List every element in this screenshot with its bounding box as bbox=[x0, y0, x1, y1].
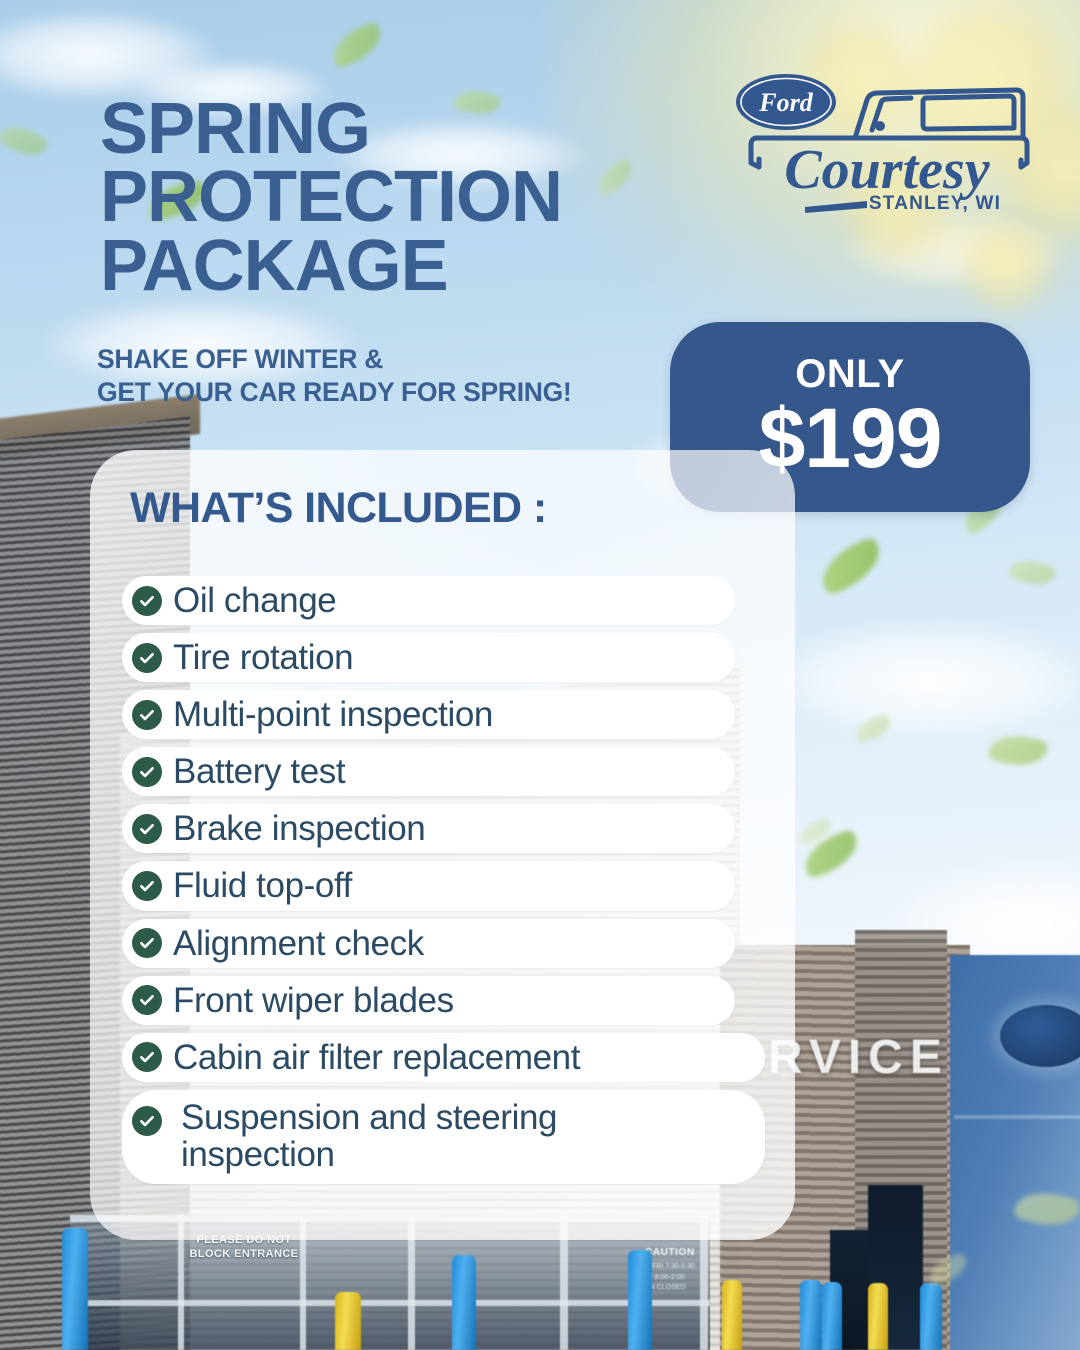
check-glyph bbox=[138, 991, 156, 1009]
check-circle-icon bbox=[132, 1106, 162, 1136]
check-circle-icon bbox=[132, 928, 162, 958]
headline-line-1: SPRING bbox=[100, 95, 562, 163]
bollard-blue bbox=[800, 1280, 822, 1350]
check-glyph bbox=[138, 649, 156, 667]
check-glyph bbox=[138, 820, 156, 838]
svg-text:Ford: Ford bbox=[758, 88, 813, 117]
bollard-blue bbox=[822, 1282, 842, 1350]
check-glyph bbox=[138, 763, 156, 781]
mullion-horizontal bbox=[70, 1300, 710, 1306]
included-item-label: Multi-point inspection bbox=[173, 696, 493, 733]
included-item-5: Brake inspection bbox=[122, 804, 735, 853]
check-circle-icon bbox=[132, 814, 162, 844]
bollard-yellow bbox=[335, 1292, 361, 1350]
check-circle-icon bbox=[132, 700, 162, 730]
mirror-dot bbox=[875, 121, 885, 131]
check-glyph bbox=[138, 934, 156, 952]
check-circle-icon bbox=[132, 985, 162, 1015]
included-item-label: Oil change bbox=[173, 582, 336, 619]
included-item-2: Tire rotation bbox=[122, 633, 735, 682]
check-circle-icon bbox=[132, 1042, 162, 1072]
dealer-name-script: Courtesy bbox=[784, 139, 990, 201]
check-circle-icon bbox=[132, 757, 162, 787]
included-item-3: Multi-point inspection bbox=[122, 690, 735, 739]
included-item-1: Oil change bbox=[122, 576, 735, 625]
check-glyph bbox=[138, 592, 156, 610]
included-panel-title: WHAT’S INCLUDED : bbox=[130, 484, 547, 533]
included-item-label: Front wiper blades bbox=[173, 982, 454, 1019]
included-item-label: Cabin air filter replacement bbox=[173, 1039, 580, 1076]
included-item-4: Battery test bbox=[122, 747, 735, 796]
check-glyph bbox=[138, 706, 156, 724]
bollard-blue bbox=[452, 1255, 476, 1350]
included-item-label: Tire rotation bbox=[173, 639, 353, 676]
check-glyph bbox=[138, 877, 156, 895]
check-circle-icon bbox=[132, 586, 162, 616]
headline-line-3: PACKAGE bbox=[100, 232, 562, 300]
headline-line-2: PROTECTION bbox=[100, 163, 562, 231]
check-circle-icon bbox=[132, 871, 162, 901]
caution-sign: CAUTION bbox=[645, 1247, 695, 1258]
included-item-7: Alignment check bbox=[122, 919, 735, 968]
included-item-10: Suspension and steering inspection bbox=[122, 1090, 765, 1184]
poster-canvas: SERVICE PLEASE DO NOTBLOCK ENTRANCE CAUT… bbox=[0, 0, 1080, 1350]
included-item-6: Fluid top-off bbox=[122, 861, 735, 910]
bollard-blue bbox=[920, 1283, 942, 1350]
subheadline-line-1: SHAKE OFF WINTER & bbox=[97, 343, 571, 376]
included-item-label: Suspension and steering inspection bbox=[173, 1099, 557, 1173]
cloud-shape bbox=[760, 620, 1080, 740]
bollard-yellow bbox=[868, 1283, 888, 1350]
included-item-8: Front wiper blades bbox=[122, 976, 735, 1025]
included-item-label: Fluid top-off bbox=[173, 867, 352, 904]
subheadline-line-2: GET YOUR CAR READY FOR SPRING! bbox=[97, 376, 571, 409]
included-item-label: Alignment check bbox=[173, 925, 424, 962]
included-item-label: Battery test bbox=[173, 753, 345, 790]
dealer-location-label: STANLEY, WI bbox=[869, 193, 1001, 214]
subheadline: SHAKE OFF WINTER & GET YOUR CAR READY FO… bbox=[97, 343, 571, 409]
page-title: SPRING PROTECTION PACKAGE bbox=[100, 95, 562, 300]
price-prefix: ONLY bbox=[795, 354, 904, 394]
included-item-9: Cabin air filter replacement bbox=[122, 1033, 765, 1082]
included-items-list: Oil changeTire rotationMulti-point inspe… bbox=[122, 576, 782, 1192]
logo-artwork: Ford Courtesy STANLEY, WI bbox=[735, 68, 1035, 228]
included-item-label: Brake inspection bbox=[173, 810, 425, 847]
logo-swoosh bbox=[805, 201, 867, 213]
bollard-yellow bbox=[722, 1280, 742, 1350]
price-amount: $199 bbox=[759, 396, 942, 480]
check-glyph bbox=[138, 1048, 156, 1066]
check-circle-icon bbox=[132, 643, 162, 673]
dealership-logo: Ford Courtesy STANLEY, WI bbox=[735, 68, 1035, 228]
bokeh-highlight bbox=[960, 220, 1055, 315]
bollard-blue bbox=[62, 1228, 88, 1350]
check-glyph bbox=[138, 1112, 156, 1130]
ford-oval-icon: Ford bbox=[736, 74, 836, 130]
bollard-blue bbox=[628, 1250, 652, 1350]
